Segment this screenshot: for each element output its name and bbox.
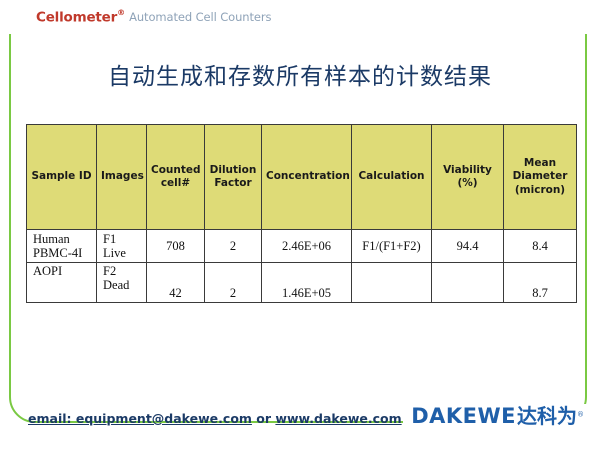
registered-trademark-icon: ® [117, 8, 125, 17]
column-header-images: Images [97, 125, 147, 230]
cell-viability [432, 263, 504, 303]
table-body: Human PBMC-4I F1 Live 708 2 2.46E+06 F1/… [27, 230, 577, 303]
column-header-mean-diameter: Mean Diameter (micron) [504, 125, 577, 230]
brand-tagline: Automated Cell Counters [129, 10, 271, 24]
results-table: Sample ID Images Counted cell# Dilution … [26, 124, 577, 303]
cellometer-logo: Cellometer®Automated Cell Counters [36, 9, 271, 25]
cell-mean-diameter: 8.4 [504, 230, 577, 263]
registered-trademark-icon: ® [577, 411, 584, 419]
footer-separator: or [252, 411, 275, 426]
cell-images: F1 Live [97, 230, 147, 263]
cell-dilution-factor: 2 [205, 263, 262, 303]
cell-mean-diameter: 8.7 [504, 263, 577, 303]
cell-images: F2 Dead [97, 263, 147, 303]
cell-viability: 94.4 [432, 230, 504, 263]
cell-calculation: F1/(F1+F2) [352, 230, 432, 263]
column-header-calculation: Calculation [352, 125, 432, 230]
cell-sample-id: Human PBMC-4I [27, 230, 97, 263]
footer-contact: email: equipment@dakewe.com or www.dakew… [28, 411, 402, 426]
website-link[interactable]: www.dakewe.com [275, 411, 401, 426]
dakewe-logo: DAKEWE达科为® [403, 404, 588, 429]
page-title: 自动生成和存数所有样本的计数结果 [0, 57, 600, 91]
cell-dilution-factor: 2 [205, 230, 262, 263]
table-row: AOPI F2 Dead 42 2 1.46E+05 8.7 [27, 263, 577, 303]
column-header-dilution-factor: Dilution Factor [205, 125, 262, 230]
email-link[interactable]: email: equipment@dakewe.com [28, 411, 252, 426]
column-header-viability: Viability (%) [432, 125, 504, 230]
column-header-sample-id: Sample ID [27, 125, 97, 230]
cell-counted-cell: 42 [147, 263, 205, 303]
dakewe-logo-en: DAKEWE [411, 404, 516, 428]
column-header-counted-cell: Counted cell# [147, 125, 205, 230]
cell-concentration: 1.46E+05 [262, 263, 352, 303]
table-row: Human PBMC-4I F1 Live 708 2 2.46E+06 F1/… [27, 230, 577, 263]
dakewe-logo-cn: 达科为 [517, 404, 577, 428]
column-header-concentration: Concentration [262, 125, 352, 230]
table-header: Sample ID Images Counted cell# Dilution … [27, 125, 577, 230]
cell-counted-cell: 708 [147, 230, 205, 263]
cell-concentration: 2.46E+06 [262, 230, 352, 263]
cell-calculation [352, 263, 432, 303]
brand-name: Cellometer [36, 9, 117, 25]
cell-sample-id: AOPI [27, 263, 97, 303]
table-header-row: Sample ID Images Counted cell# Dilution … [27, 125, 577, 230]
